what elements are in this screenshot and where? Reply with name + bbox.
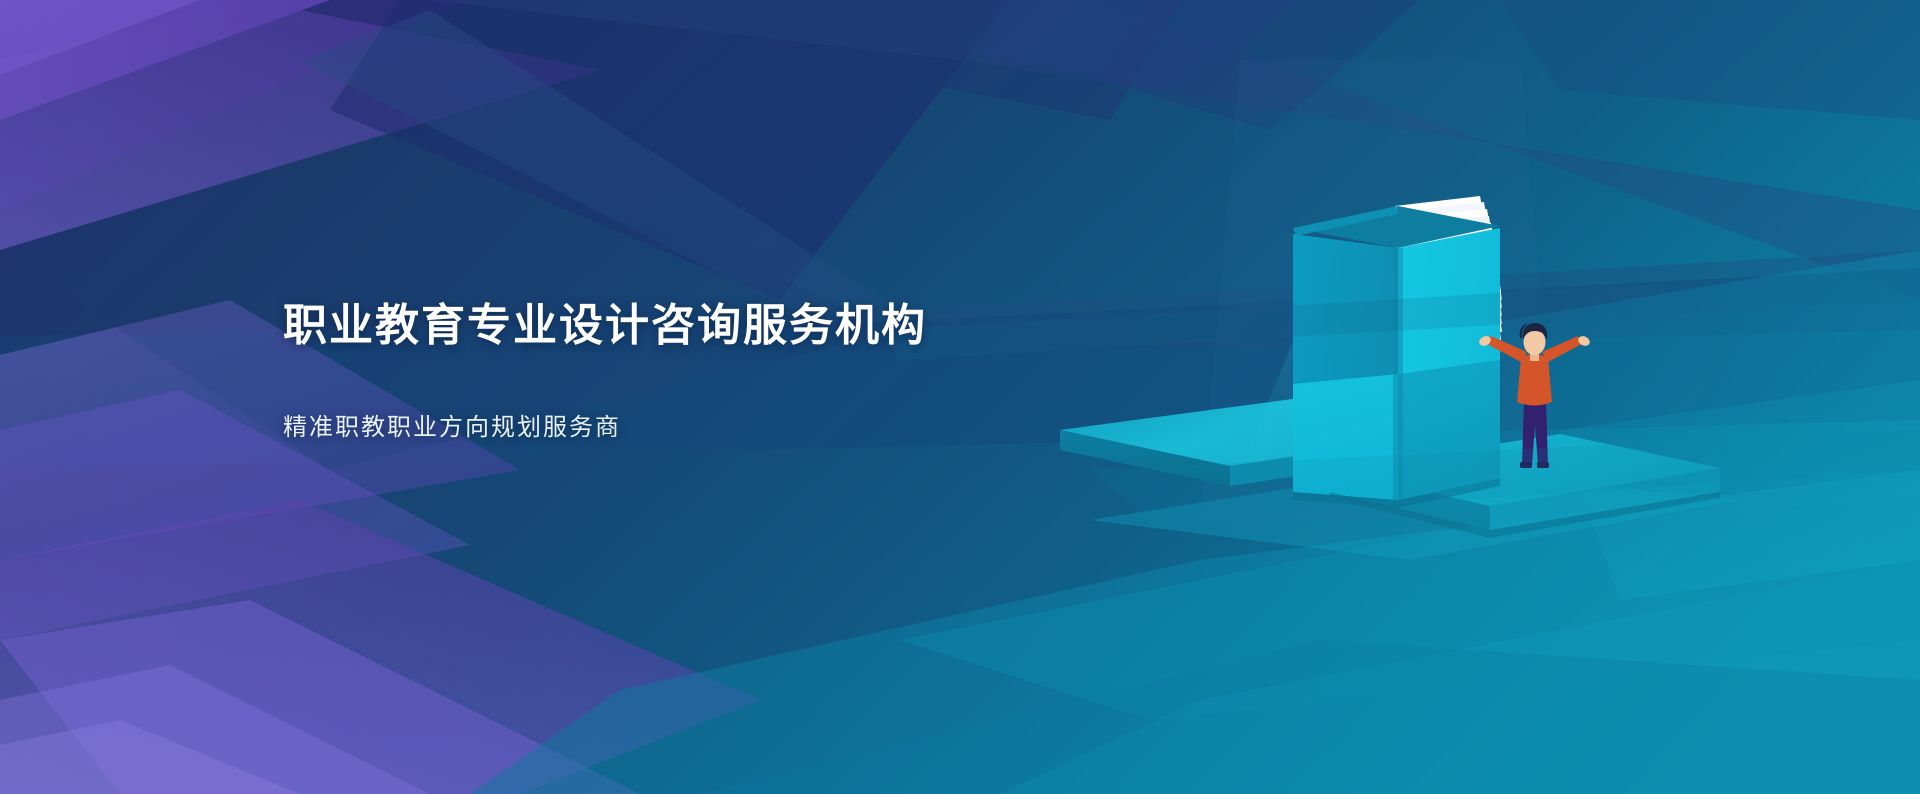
page-title: 职业教育专业设计咨询服务机构: [283, 300, 927, 352]
page-subtitle: 精准职教职业方向规划服务商: [283, 414, 927, 443]
hero-banner: 职业教育专业设计咨询服务机构 精准职教职业方向规划服务商: [0, 0, 1920, 794]
hero-text-block: 职业教育专业设计咨询服务机构 精准职教职业方向规划服务商: [283, 300, 927, 443]
